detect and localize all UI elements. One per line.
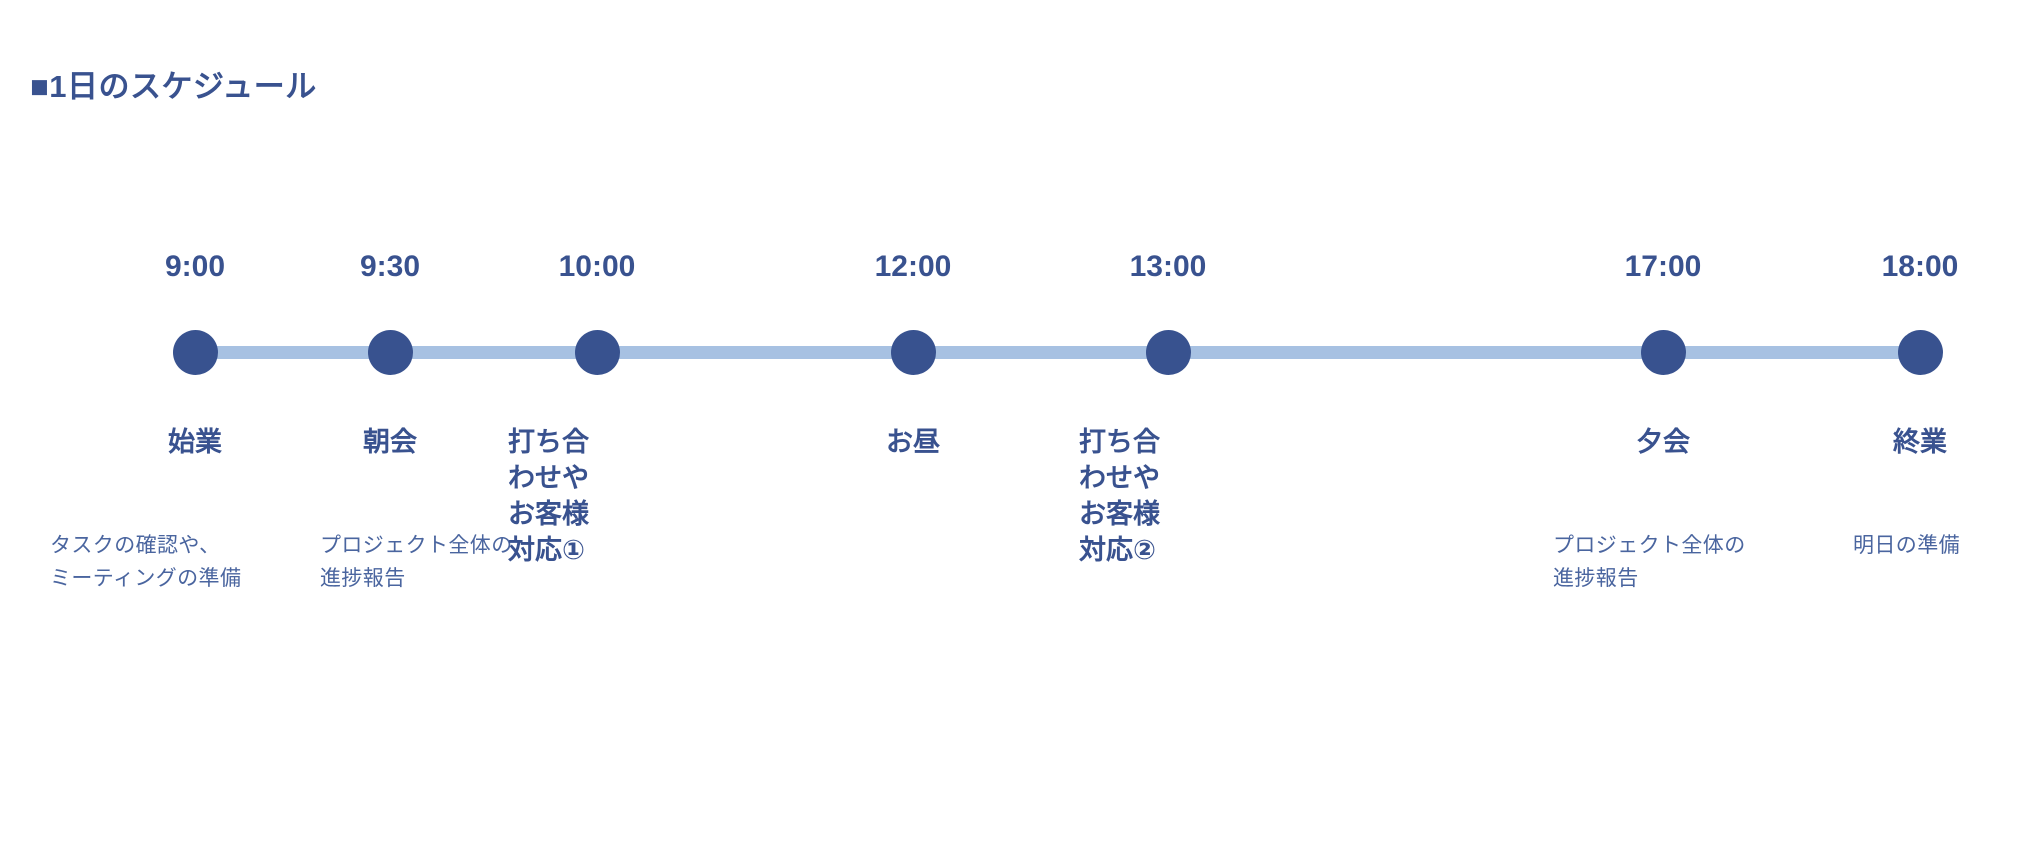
timeline-event-description: プロジェクト全体の 進捗報告: [320, 530, 513, 595]
timeline-event-description: タスクの確認や、 ミーティングの準備: [50, 530, 241, 595]
timeline-event-label: 打ち合わせや お客様対応②: [1079, 425, 1168, 569]
timeline-event-label: 終業: [1790, 425, 2022, 461]
timeline-dot-icon: [1641, 330, 1686, 375]
timeline-dot-icon: [891, 330, 936, 375]
timeline-event-label: お昼: [783, 425, 1043, 461]
schedule-diagram-canvas: ■1日のスケジュール 9:00始業タスクの確認や、 ミーティングの準備9:30朝…: [0, 0, 2022, 862]
timeline-event-label: 朝会: [260, 425, 520, 461]
timeline-time-label: 17:00: [1533, 249, 1793, 285]
timeline-event-description: プロジェクト全体の 進捗報告: [1553, 530, 1746, 595]
timeline-dot-icon: [1146, 330, 1191, 375]
timeline-event-label: 夕会: [1533, 425, 1793, 461]
timeline-time-label: 13:00: [1038, 249, 1298, 285]
timeline-dot-icon: [368, 330, 413, 375]
timeline-time-label: 12:00: [783, 249, 1043, 285]
timeline-time-label: 18:00: [1790, 249, 2022, 285]
timeline-event-description: 明日の準備: [1853, 530, 1960, 563]
timeline-time-label: 10:00: [467, 249, 727, 285]
timeline-dot-icon: [1898, 330, 1943, 375]
timeline-dot-icon: [575, 330, 620, 375]
timeline-dot-icon: [173, 330, 218, 375]
timeline-event-label: 打ち合わせや お客様対応①: [508, 425, 597, 569]
timeline: 9:00始業タスクの確認や、 ミーティングの準備9:30朝会プロジェクト全体の …: [0, 0, 2022, 862]
